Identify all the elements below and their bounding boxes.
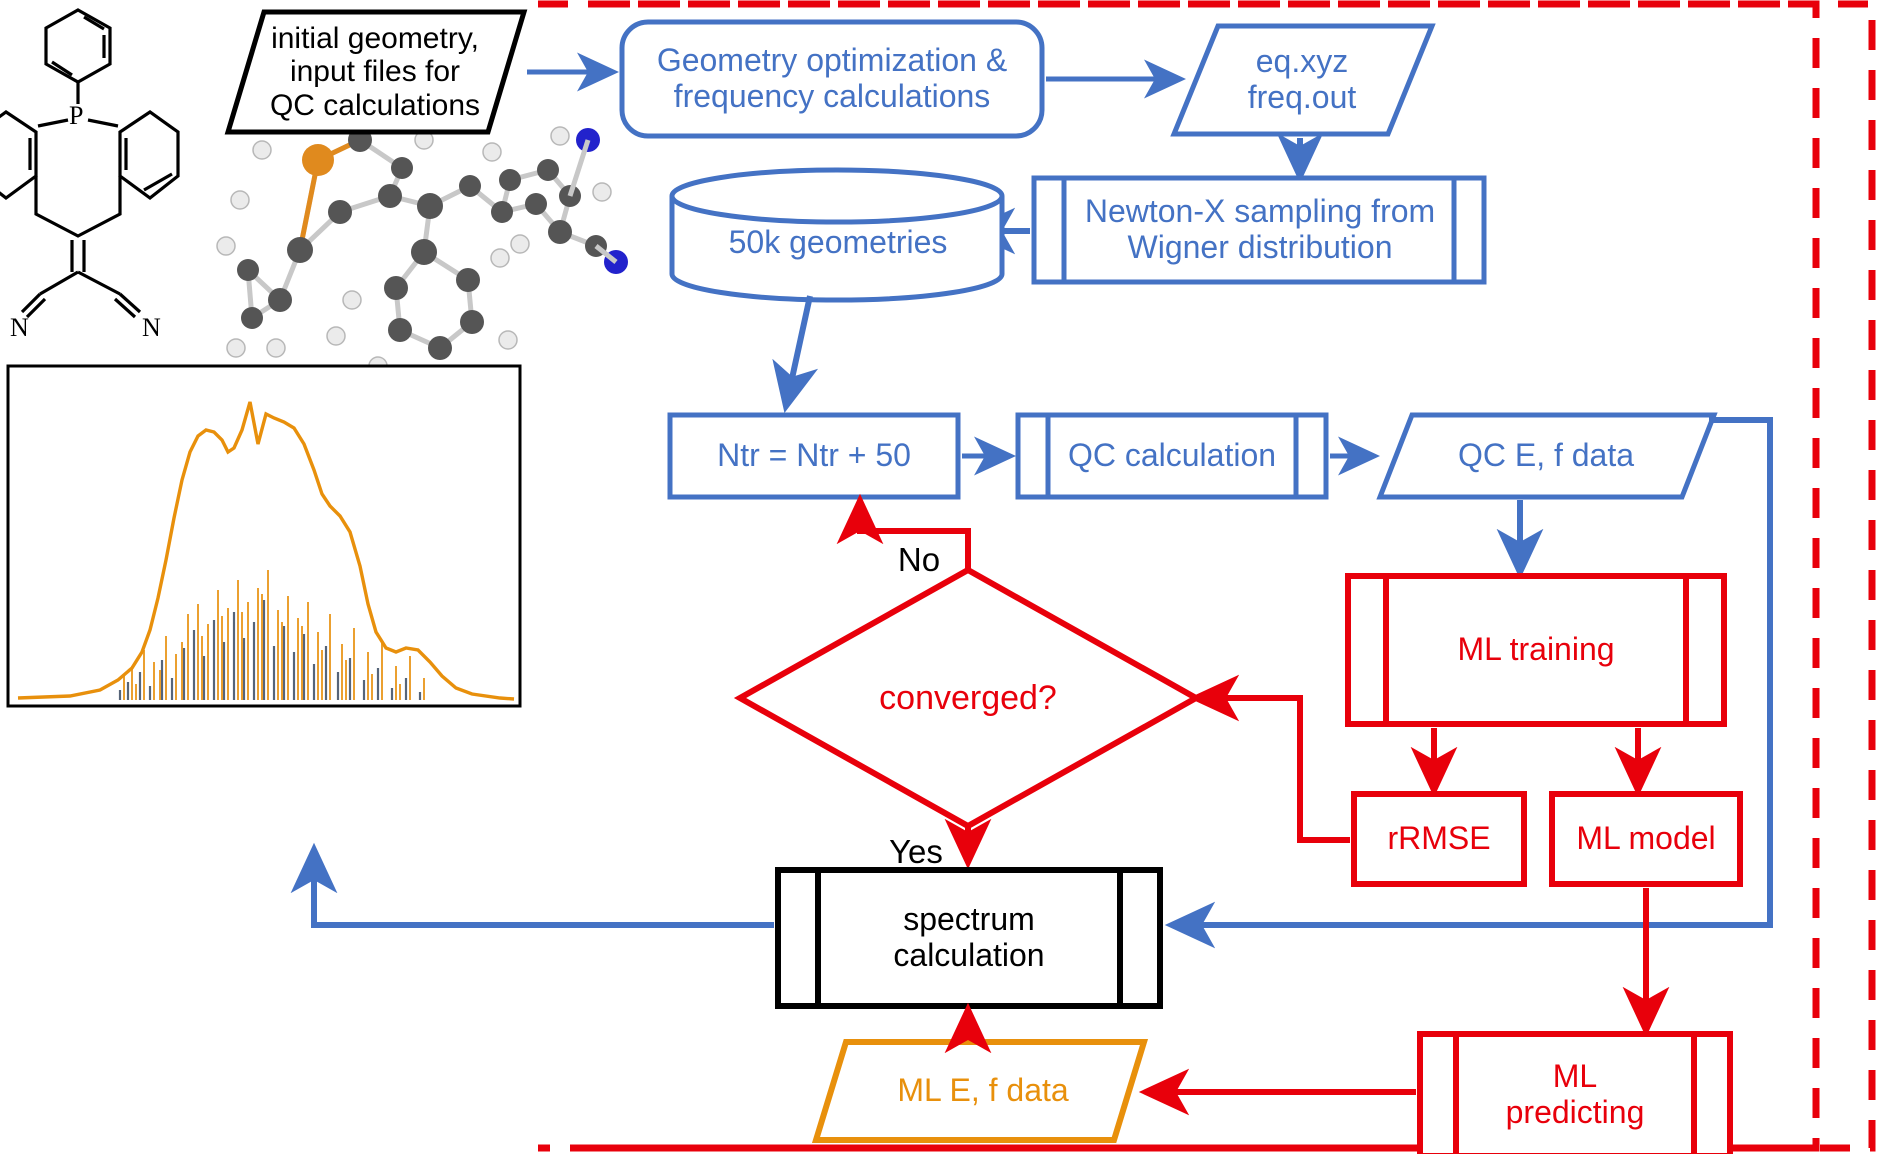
node-ml-predicting[interactable]: [1420, 1034, 1730, 1154]
node-spectrum-calculation[interactable]: [778, 870, 1160, 1006]
molecule-2d-atom-labels: P N N: [10, 101, 161, 342]
node-newton-x[interactable]: [1034, 178, 1484, 282]
node-rrmse[interactable]: [1354, 794, 1524, 884]
node-qc-data[interactable]: [1380, 415, 1714, 497]
edge-rrmse-to-converged: [1196, 698, 1350, 840]
svg-text:N: N: [142, 313, 161, 342]
edge-converged-no: [860, 501, 968, 570]
node-ntr-increment[interactable]: [670, 415, 958, 497]
molecule-3d-model: [217, 99, 628, 395]
node-geometries-db[interactable]: [672, 170, 1002, 300]
svg-text:N: N: [10, 313, 29, 342]
node-ml-training[interactable]: [1348, 576, 1724, 724]
node-converged[interactable]: [740, 570, 1196, 826]
node-eq-files[interactable]: [1174, 26, 1432, 134]
node-qc-calculation[interactable]: [1018, 415, 1326, 497]
node-geom-opt[interactable]: [622, 22, 1042, 136]
edge-spectrum-to-plot: [314, 850, 774, 925]
node-ml-model[interactable]: [1552, 794, 1740, 884]
svg-text:P: P: [69, 101, 83, 130]
spectrum-plot: [8, 366, 520, 706]
molecule-2d-skeleton: [0, 10, 178, 317]
node-input-files[interactable]: [228, 12, 524, 132]
edge-db-to-ntr: [786, 296, 810, 406]
node-ml-data[interactable]: [816, 1042, 1144, 1140]
